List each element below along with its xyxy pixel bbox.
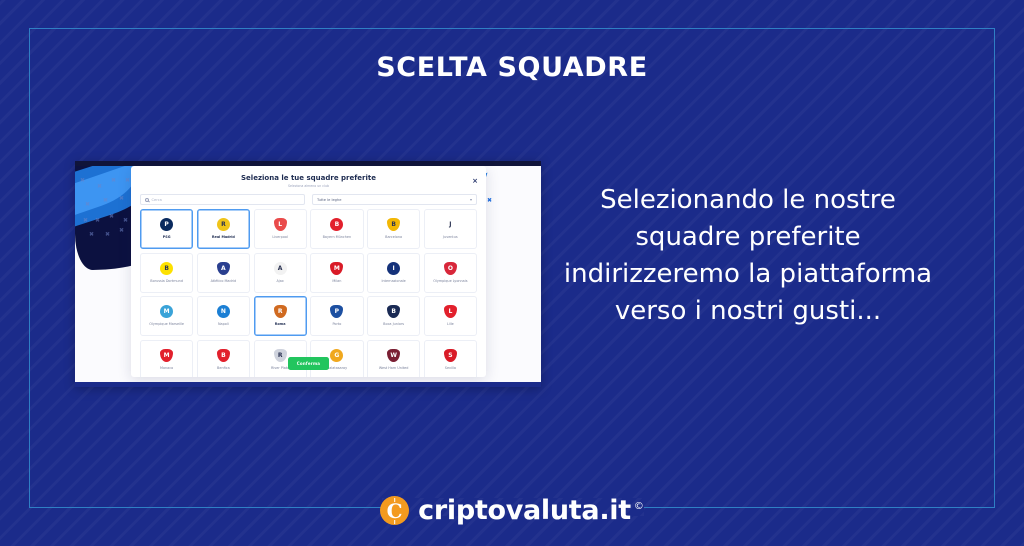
screenshot-bottombar: [75, 382, 541, 387]
decorative-x-icon: ✖: [119, 196, 124, 202]
modal-controls: Cerca Tutte le leghe: [140, 194, 477, 205]
team-card[interactable]: BBoca Juniors: [367, 296, 420, 336]
team-crest-icon: A: [217, 262, 230, 275]
footer-logo: C criptovaluta.it ©: [0, 495, 1024, 526]
team-card[interactable]: LLiverpool: [254, 209, 307, 249]
close-icon[interactable]: ×: [472, 178, 478, 185]
team-crest-icon: P: [330, 305, 343, 318]
decorative-x-icon: ✖: [125, 178, 130, 184]
team-name: PSG: [163, 235, 171, 239]
team-card[interactable]: PPorto: [310, 296, 363, 336]
decorative-x-icon: ✖: [109, 214, 114, 220]
team-crest-icon: O: [444, 262, 457, 275]
team-grid: PPSGRReal MadridLLiverpoolBBayern Münche…: [140, 209, 477, 377]
team-crest-icon: P: [160, 218, 173, 231]
team-name: Internazionale: [382, 279, 406, 283]
chevron-down-icon: [470, 199, 472, 201]
team-crest-icon: R: [217, 218, 230, 231]
team-name: Olympique Marseille: [149, 322, 184, 326]
brand-name: criptovaluta.it: [418, 495, 631, 526]
decorative-x-icon: ✖: [105, 232, 110, 238]
decorative-x-icon: ✖: [123, 218, 128, 224]
team-card[interactable]: MOlympique Marseille: [140, 296, 193, 336]
team-name: Ajax: [276, 279, 283, 283]
team-name: Barcelona: [385, 235, 402, 239]
team-name: Lille: [447, 322, 454, 326]
team-card[interactable]: OOlympique Lyonnais: [424, 253, 477, 293]
league-filter-value: Tutte le leghe: [317, 198, 341, 202]
modal-subtitle: Seleziona almeno un club: [131, 184, 486, 188]
decorative-x-icon: ✖: [95, 218, 100, 224]
confirm-button[interactable]: Conferma: [288, 357, 329, 370]
team-card[interactable]: LLille: [424, 296, 477, 336]
decorative-x-icon: ✖: [83, 218, 88, 224]
decorative-x-icon: ✖: [119, 228, 124, 234]
team-crest-icon: B: [330, 218, 343, 231]
team-crest-icon: I: [387, 262, 400, 275]
team-card[interactable]: AAjax: [254, 253, 307, 293]
team-crest-icon: L: [444, 305, 457, 318]
team-card[interactable]: RRoma: [254, 296, 307, 336]
decorative-x-icon: ✖: [89, 232, 94, 238]
confirm-row: Conferma: [131, 357, 486, 370]
team-crest-icon: J: [444, 218, 457, 231]
team-card[interactable]: IInternazionale: [367, 253, 420, 293]
search-input[interactable]: Cerca: [140, 194, 305, 205]
decorative-x-icon: ✖: [487, 198, 492, 204]
team-crest-icon: B: [387, 218, 400, 231]
team-name: Olympique Lyonnais: [433, 279, 467, 283]
team-crest-icon: M: [160, 305, 173, 318]
search-placeholder: Cerca: [152, 198, 162, 202]
app-screenshot: ✖✖✖✖✖✖✖✖✖✖✖✖✖✖✖✖✖✖✖✖✖✖✖✖✖✖✖✖✖✖✖✖✖✖✖✖✖✖ ×…: [75, 161, 541, 387]
modal-title: Seleziona le tue squadre preferite: [131, 174, 486, 182]
decorative-x-icon: ✖: [103, 198, 108, 204]
team-crest-icon: B: [160, 262, 173, 275]
team-selection-modal: × Seleziona le tue squadre preferite Sel…: [131, 166, 486, 377]
team-name: Boca Juniors: [383, 322, 404, 326]
team-card[interactable]: PPSG: [140, 209, 193, 249]
team-name: Borussia Dortmund: [150, 279, 183, 283]
decorative-x-icon: ✖: [97, 184, 102, 190]
team-card[interactable]: BBarcelona: [367, 209, 420, 249]
team-crest-icon: R: [274, 305, 287, 318]
team-card[interactable]: BBayern München: [310, 209, 363, 249]
team-crest-icon: L: [274, 218, 287, 231]
coin-icon: C: [380, 496, 409, 525]
team-name: Bayern München: [323, 235, 352, 239]
search-icon: [145, 198, 149, 202]
decorative-x-icon: ✖: [80, 178, 85, 184]
team-name: Porto: [332, 322, 341, 326]
team-card[interactable]: AAtlético Madrid: [197, 253, 250, 293]
team-crest-icon: M: [330, 262, 343, 275]
team-card[interactable]: JJuventus: [424, 209, 477, 249]
team-crest-icon: N: [217, 305, 230, 318]
team-card[interactable]: MMilan: [310, 253, 363, 293]
team-crest-icon: B: [387, 305, 400, 318]
team-crest-icon: A: [274, 262, 287, 275]
description-text: Selezionando le nostre squadre preferite…: [552, 182, 944, 330]
team-card[interactable]: NNapoli: [197, 296, 250, 336]
team-card[interactable]: RReal Madrid: [197, 209, 250, 249]
team-name: Liverpool: [272, 235, 288, 239]
page-title: SCELTA SQUADRE: [0, 52, 1024, 83]
team-name: Real Madrid: [212, 235, 235, 239]
decorative-x-icon: ✖: [111, 178, 116, 184]
team-name: Napoli: [218, 322, 229, 326]
team-name: Roma: [275, 322, 286, 326]
trademark-symbol: ©: [634, 501, 644, 512]
team-card[interactable]: BBorussia Dortmund: [140, 253, 193, 293]
team-name: Milan: [332, 279, 341, 283]
team-name: Juventus: [443, 235, 458, 239]
league-filter-select[interactable]: Tutte le leghe: [312, 194, 477, 205]
decorative-x-icon: ✖: [85, 202, 90, 208]
team-name: Atlético Madrid: [211, 279, 237, 283]
